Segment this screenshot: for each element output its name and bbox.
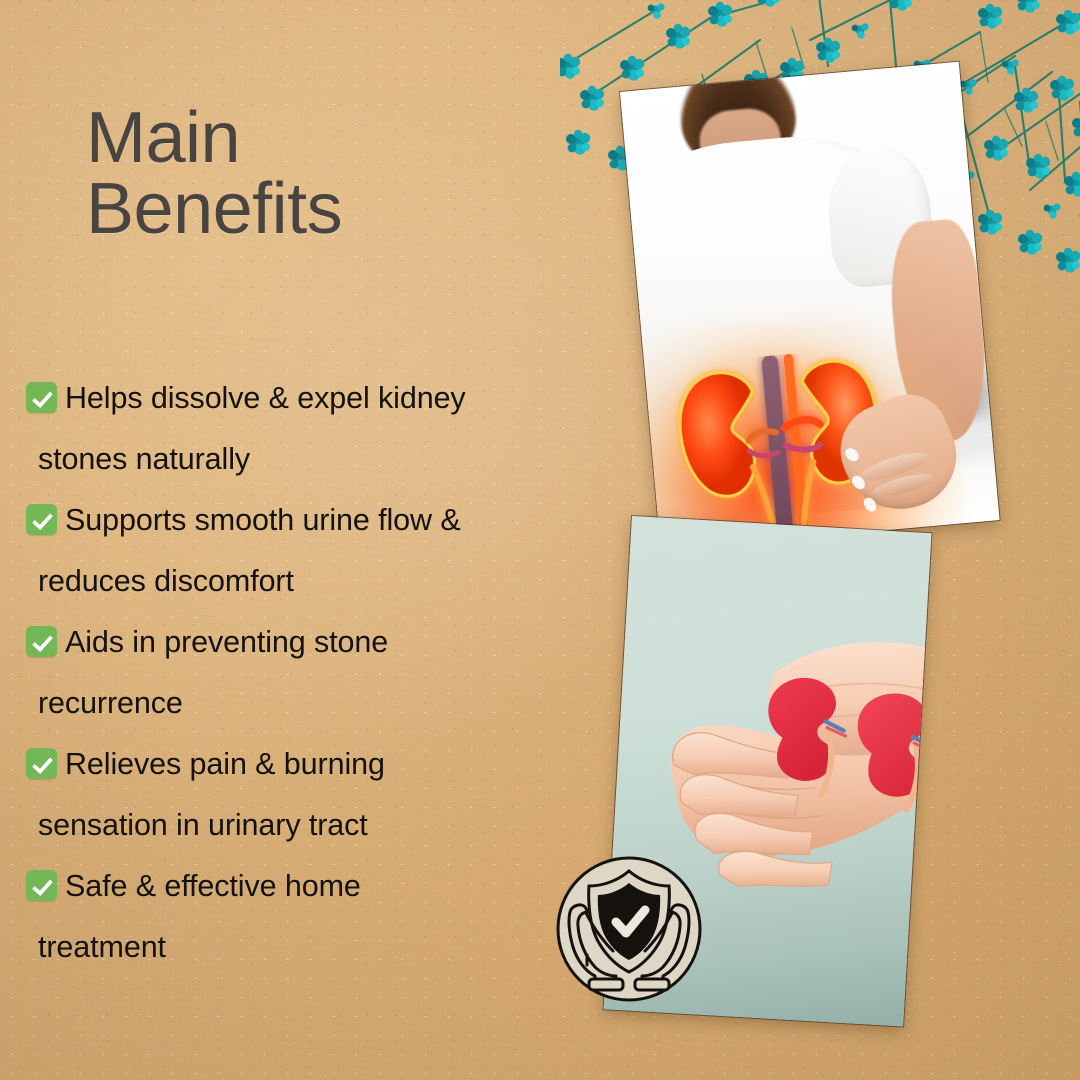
poster-canvas: Main Benefits Helps dissolve & expel kid… bbox=[0, 0, 1080, 1080]
benefit-3-line-2: recurrence bbox=[38, 686, 183, 720]
photo-back-pain bbox=[620, 62, 1000, 550]
benefit-5-line-2: treatment bbox=[38, 930, 166, 964]
page-title: Main Benefits bbox=[86, 103, 556, 246]
benefit-item-2: Supports smooth urine flow & reduces dis… bbox=[26, 490, 626, 612]
benefit-item-4: Relieves pain & burning sensation in uri… bbox=[26, 734, 626, 856]
check-icon bbox=[26, 626, 57, 657]
left-wrist-bar bbox=[589, 979, 623, 990]
title-line-1: Main bbox=[86, 98, 240, 178]
benefit-5-line-1: Safe & effective home bbox=[65, 869, 361, 903]
check-icon bbox=[26, 870, 57, 901]
benefit-item-3: Aids in preventing stone recurrence bbox=[26, 612, 626, 734]
benefit-2-line-2: reduces discomfort bbox=[38, 564, 294, 598]
title-line-2: Benefits bbox=[86, 174, 556, 245]
check-icon bbox=[26, 382, 57, 413]
benefit-1-line-1: Helps dissolve & expel kidney bbox=[65, 381, 466, 415]
protection-badge bbox=[555, 855, 703, 1003]
check-icon bbox=[26, 748, 57, 779]
benefit-2-line-1: Supports smooth urine flow & bbox=[65, 503, 461, 537]
benefit-3-line-1: Aids in preventing stone bbox=[65, 625, 388, 659]
right-wrist-bar bbox=[635, 979, 669, 990]
benefit-1-line-2: stones naturally bbox=[38, 442, 250, 476]
benefit-4-line-1: Relieves pain & burning bbox=[65, 747, 385, 781]
benefit-item-1: Helps dissolve & expel kidney stones nat… bbox=[26, 368, 626, 490]
benefit-4-line-2: sensation in urinary tract bbox=[38, 808, 368, 842]
benefit-item-5: Safe & effective home treatment bbox=[26, 856, 626, 978]
check-icon bbox=[26, 504, 57, 535]
benefits-list: Helps dissolve & expel kidney stones nat… bbox=[26, 368, 626, 978]
fingernail bbox=[843, 446, 861, 464]
